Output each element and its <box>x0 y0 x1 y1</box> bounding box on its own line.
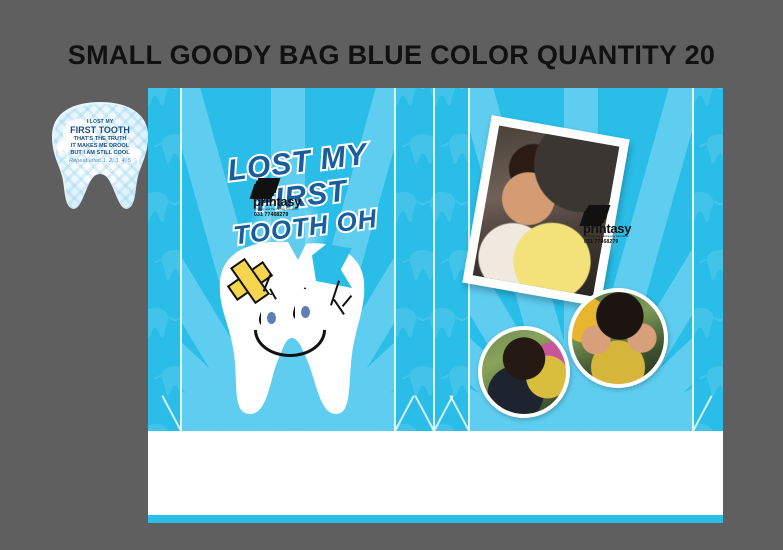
tooth-pattern-arm <box>441 374 449 379</box>
tooth-pattern-panel-mid-b <box>435 88 469 431</box>
printasy-tagline: Printing and Packaging Solutions <box>254 208 314 211</box>
tooth-pattern-body <box>705 364 723 398</box>
tooth-pattern-body <box>148 306 170 340</box>
tooth-pattern-icon <box>148 306 170 340</box>
sticker-line-3: THAT'S THE TRUTH <box>58 137 142 143</box>
tooth-pattern-arm <box>719 200 723 205</box>
tooth-pattern-body <box>160 132 180 166</box>
tooth-pattern-body <box>447 132 469 166</box>
tooth-shaped-sticker: I LOST MY FIRST TOOTH THAT'S THE TRUTH I… <box>44 100 156 212</box>
photo-circle-left <box>478 326 570 418</box>
tooth-pattern-icon <box>705 248 723 282</box>
tooth-pattern-arm <box>154 258 162 263</box>
tooth-pattern-panel-right <box>693 88 723 431</box>
tooth-pattern-arm <box>402 258 410 263</box>
screenshot-stage: SMALL GOODY BAG BLUE COLOR QUANTITY 20 I… <box>0 0 783 550</box>
tooth-pattern-body <box>435 88 457 108</box>
tooth-pattern-body <box>693 190 715 224</box>
tooth-pattern-icon <box>148 88 170 108</box>
tooth-pattern-body <box>396 306 418 340</box>
tooth-pattern-arm <box>422 200 430 205</box>
tooth-pattern-arm <box>154 374 162 379</box>
sticker-line-2: FIRST TOOTH <box>58 126 142 136</box>
tooth-pattern-body <box>160 364 180 398</box>
tooth-pattern-icon <box>148 422 170 431</box>
tooth-pattern-arm <box>719 316 723 321</box>
tooth-pattern-body <box>396 88 418 108</box>
tooth-pattern-icon <box>160 364 180 398</box>
tooth-pattern-icon <box>435 306 457 340</box>
sticker-line-5: BUT I AM STILL COOL <box>58 151 142 157</box>
tooth-pattern-icon <box>408 248 434 282</box>
tooth-pattern-body <box>160 248 180 282</box>
artwork-white-band <box>148 431 723 523</box>
tooth-pattern-body <box>705 248 723 282</box>
tooth-pattern-icon <box>435 88 457 108</box>
tooth-pattern-arm <box>719 88 723 89</box>
printasy-phone: 031 77468279 <box>254 212 314 218</box>
printasy-phone: 031 77468279 <box>584 239 644 245</box>
pupil-left <box>267 312 276 324</box>
tooth-pattern-icon <box>160 248 180 282</box>
goody-bag-artwork-sheet: LOST MY FIRST TOOTH OH <box>148 88 723 523</box>
tooth-pattern-icon <box>693 306 715 340</box>
tooth-pattern-icon <box>435 190 457 224</box>
tooth-pattern-body <box>693 306 715 340</box>
tooth-pattern-body <box>693 88 715 108</box>
artwork-blue-area: LOST MY FIRST TOOTH OH <box>148 88 723 431</box>
printasy-logo-back: printasy Printing and Packaging Solution… <box>582 205 644 245</box>
sticker-line-6: Repeat after. 1, 2, 3, 4, 5 <box>58 159 142 165</box>
tooth-pattern-icon <box>396 88 418 108</box>
sticker-line-4: IT MAKES ME DROOL <box>58 144 142 150</box>
tooth-pattern-icon <box>408 364 434 398</box>
tooth-pattern-body <box>435 190 457 224</box>
tooth-pattern-panel-left <box>148 88 180 431</box>
tooth-pattern-icon <box>160 132 180 166</box>
tooth-pattern-icon <box>705 132 723 166</box>
printasy-tagline: Printing and Packaging Solutions <box>584 235 644 238</box>
pupil-right <box>301 306 310 318</box>
tooth-pattern-icon <box>447 132 469 166</box>
stacked-pages-icon <box>582 205 608 225</box>
fold-line <box>180 88 182 431</box>
tooth-pattern-arm <box>699 142 707 147</box>
stacked-pages-icon <box>252 178 278 198</box>
printasy-logo-front: printasy Printing and Packaging Solution… <box>252 178 314 218</box>
tooth-pattern-body <box>148 422 170 431</box>
tooth-pattern-icon <box>693 190 715 224</box>
sticker-text-block: I LOST MY FIRST TOOTH THAT'S THE TRUTH I… <box>58 120 142 165</box>
tooth-pattern-arm <box>402 374 410 379</box>
tooth-pattern-icon <box>396 306 418 340</box>
tooth-pattern-arm <box>699 374 707 379</box>
tooth-pattern-arm <box>441 258 449 263</box>
tooth-pattern-body <box>408 364 434 398</box>
tooth-pattern-body <box>148 88 170 108</box>
tooth-pattern-icon <box>447 364 469 398</box>
tooth-pattern-arm <box>154 142 162 147</box>
tooth-pattern-arm <box>422 316 430 321</box>
fold-line <box>692 88 694 431</box>
tooth-pattern-icon <box>705 364 723 398</box>
tooth-pattern-body <box>447 364 469 398</box>
tooth-pattern-icon <box>148 190 170 224</box>
tooth-pattern-body <box>705 132 723 166</box>
tooth-pattern-body <box>408 248 434 282</box>
artwork-bottom-strip <box>148 515 723 523</box>
tooth-pattern-icon <box>693 88 715 108</box>
tooth-pattern-body <box>148 190 170 224</box>
tooth-pattern-arm <box>699 258 707 263</box>
fold-line <box>433 88 435 431</box>
tooth-pattern-arm <box>441 142 449 147</box>
page-title: SMALL GOODY BAG BLUE COLOR QUANTITY 20 <box>0 40 783 71</box>
tooth-pattern-body <box>435 306 457 340</box>
sad-broken-tooth-character <box>210 238 370 418</box>
photo-circle-right <box>568 288 668 388</box>
